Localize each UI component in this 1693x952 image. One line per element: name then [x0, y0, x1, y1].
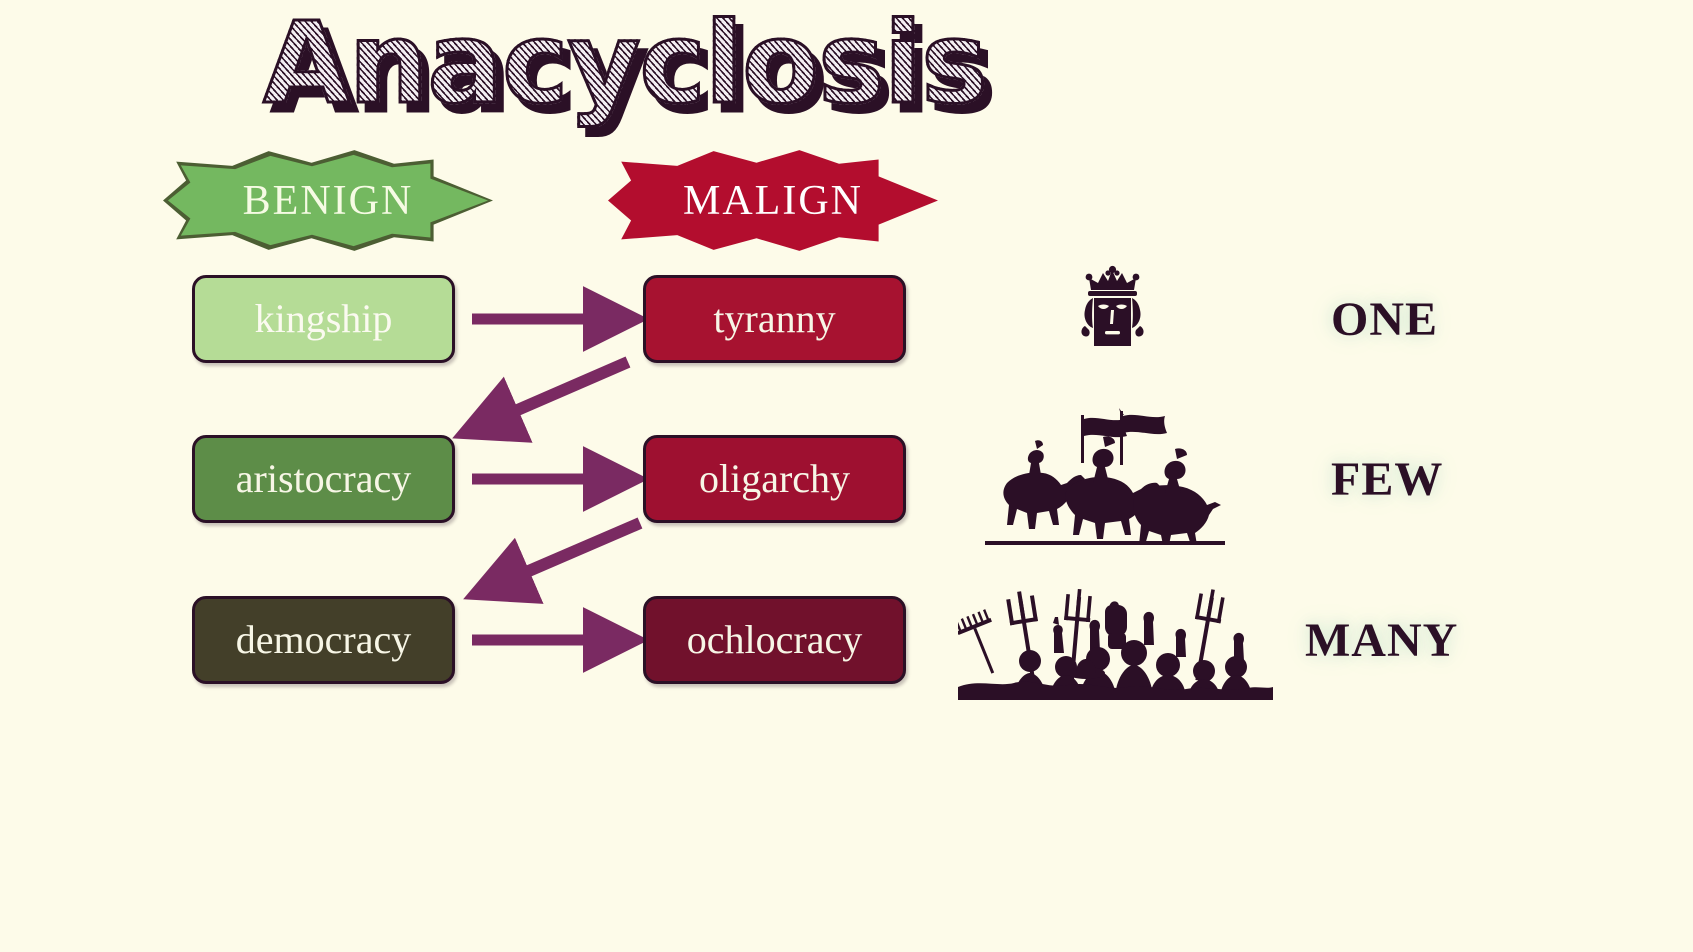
count-label-many: MANY [1305, 613, 1458, 668]
node-ochlocracy-label: ochlocracy [687, 620, 862, 660]
count-label-one: ONE [1331, 292, 1438, 347]
page-title-text: Anacyclosis [263, 2, 987, 127]
node-democracy[interactable]: democracy [192, 596, 455, 684]
anacyclosis-diagram: Anacyclosis Anacyclosis BENIGN MALIGN [0, 0, 1693, 952]
crowd-with-pitchforks-icon [958, 575, 1273, 700]
malign-column-banner: MALIGN [608, 148, 938, 253]
page-title: Anacyclosis Anacyclosis [0, 2, 1250, 127]
node-tyranny-label: tyranny [713, 299, 835, 339]
node-oligarchy-label: oligarchy [699, 459, 850, 499]
crowned-king-head-icon [1040, 252, 1190, 372]
benign-column-banner: BENIGN [163, 148, 493, 253]
malign-banner-label: MALIGN [683, 177, 863, 225]
arrow-oligarchy-to-democracy [494, 523, 640, 586]
arrow-tyranny-to-aristocracy [483, 362, 628, 425]
node-aristocracy[interactable]: aristocracy [192, 435, 455, 523]
node-ochlocracy[interactable]: ochlocracy [643, 596, 906, 684]
node-tyranny[interactable]: tyranny [643, 275, 906, 363]
benign-banner-label: BENIGN [243, 177, 414, 225]
cavalry-knights-icon [985, 405, 1225, 545]
node-oligarchy[interactable]: oligarchy [643, 435, 906, 523]
count-label-few: FEW [1331, 452, 1443, 507]
node-kingship-label: kingship [255, 299, 393, 339]
node-kingship[interactable]: kingship [192, 275, 455, 363]
node-democracy-label: democracy [236, 620, 411, 660]
node-aristocracy-label: aristocracy [236, 459, 411, 499]
